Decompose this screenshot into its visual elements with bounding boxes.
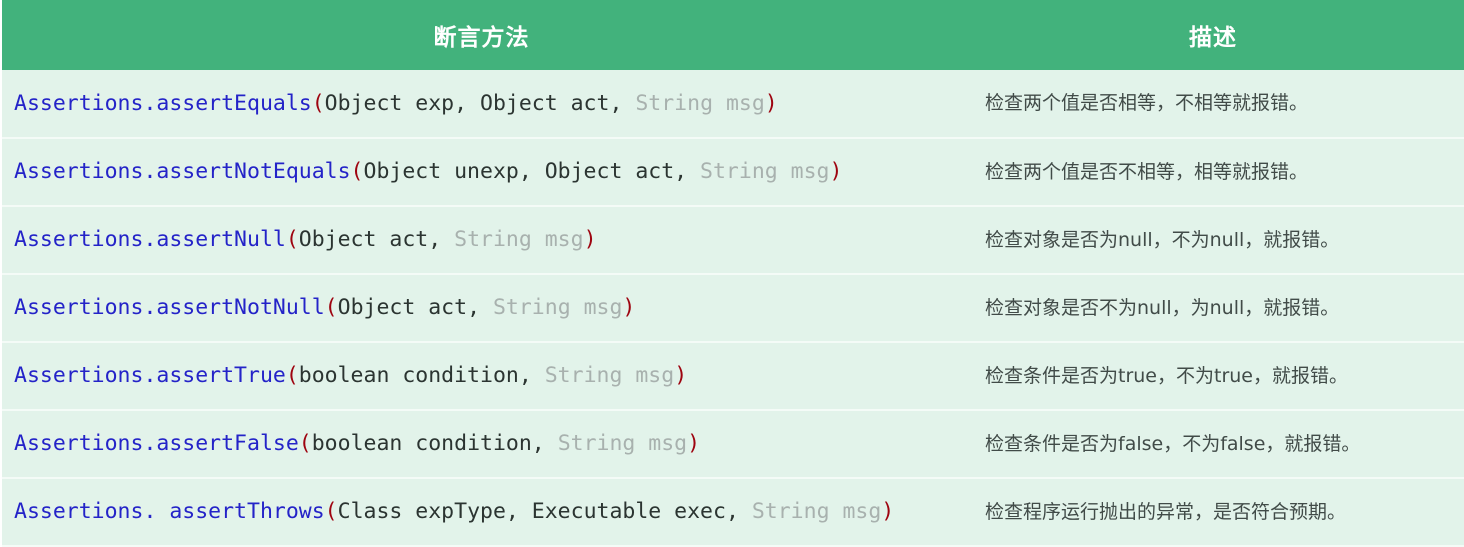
assertion-description-text: 检查对象是否为null，不为null，就报错。 (985, 229, 1339, 251)
assertion-description-cell: 检查两个值是否不相等，相等就报错。 (961, 138, 1464, 206)
assertion-method-signature: Assertions.assertNotNull(Object act, Str… (14, 295, 635, 320)
assertion-method-cell: Assertions.assertEquals(Object exp, Obje… (1, 70, 961, 138)
table-row: Assertions.assertNotEquals(Object unexp,… (1, 138, 1464, 206)
optional-arg: String msg (493, 295, 622, 320)
assertion-description-cell: 检查条件是否为true，不为true，就报错。 (961, 342, 1464, 410)
method-args: boolean condition, (312, 431, 558, 456)
method-name: Assertions.assertTrue (14, 363, 286, 388)
table-row: Assertions.assertEquals(Object exp, Obje… (1, 70, 1464, 138)
assertion-method-cell: Assertions. assertThrows(Class expType, … (1, 478, 961, 546)
method-args: Object act, (299, 227, 454, 252)
method-name: Assertions.assertNotEquals (14, 159, 351, 184)
table-row: Assertions.assertTrue(boolean condition,… (1, 342, 1464, 410)
assertion-description-text: 检查程序运行抛出的异常，是否符合预期。 (985, 501, 1346, 523)
table-row: Assertions.assertNull(Object act, String… (1, 206, 1464, 274)
paren-open: ( (299, 431, 312, 456)
column-header-method: 断言方法 (1, 0, 961, 70)
method-name: Assertions.assertNotNull (14, 295, 325, 320)
method-name: Assertions.assertEquals (14, 91, 312, 116)
assertion-method-cell: Assertions.assertTrue(boolean condition,… (1, 342, 961, 410)
method-name: Assertions.assertFalse (14, 431, 299, 456)
optional-arg: String msg (752, 499, 881, 524)
column-header-description: 描述 (961, 0, 1464, 70)
assertion-method-signature: Assertions.assertNull(Object act, String… (14, 227, 597, 252)
method-args: boolean condition, (299, 363, 545, 388)
optional-arg: String msg (545, 363, 674, 388)
optional-arg: String msg (700, 159, 829, 184)
assertion-description-cell: 检查条件是否为false，不为false，就报错。 (961, 410, 1464, 478)
optional-arg: String msg (454, 227, 583, 252)
paren-open: ( (312, 91, 325, 116)
assertion-description-text: 检查条件是否为false，不为false，就报错。 (985, 433, 1360, 455)
paren-close: ) (687, 431, 700, 456)
method-args: Object unexp, Object act, (364, 159, 701, 184)
paren-open: ( (325, 295, 338, 320)
assertion-description-text: 检查两个值是否不相等，相等就报错。 (985, 161, 1308, 183)
paren-close: ) (881, 499, 894, 524)
assertion-methods-table-container: 断言方法 描述 Assertions.assertEquals(Object e… (0, 0, 1464, 547)
optional-arg: String msg (558, 431, 687, 456)
method-args: Object exp, Object act, (325, 91, 636, 116)
paren-close: ) (674, 363, 687, 388)
paren-close: ) (765, 91, 778, 116)
paren-open: ( (351, 159, 364, 184)
table-body: Assertions.assertEquals(Object exp, Obje… (1, 70, 1464, 547)
method-name: Assertions. assertThrows (14, 499, 325, 524)
assertion-methods-table: 断言方法 描述 Assertions.assertEquals(Object e… (0, 0, 1464, 547)
table-row: Assertions.assertFalse(boolean condition… (1, 410, 1464, 478)
assertion-method-signature: Assertions.assertFalse(boolean condition… (14, 431, 700, 456)
table-head: 断言方法 描述 (1, 0, 1464, 70)
assertion-description-text: 检查两个值是否相等，不相等就报错。 (985, 92, 1308, 114)
paren-close: ) (622, 295, 635, 320)
method-name: Assertions.assertNull (14, 227, 286, 252)
assertion-description-text: 检查对象是否不为null，为null，就报错。 (985, 297, 1339, 319)
method-args: Object act, (338, 295, 493, 320)
assertion-method-cell: Assertions.assertNull(Object act, String… (1, 206, 961, 274)
paren-close: ) (584, 227, 597, 252)
assertion-description-text: 检查条件是否为true，不为true，就报错。 (985, 365, 1348, 387)
assertion-method-cell: Assertions.assertNotNull(Object act, Str… (1, 274, 961, 342)
paren-open: ( (325, 499, 338, 524)
assertion-description-cell: 检查两个值是否相等，不相等就报错。 (961, 70, 1464, 138)
method-args: Class expType, Executable exec, (338, 499, 752, 524)
assertion-method-signature: Assertions.assertEquals(Object exp, Obje… (14, 91, 778, 116)
table-row: Assertions. assertThrows(Class expType, … (1, 478, 1464, 546)
optional-arg: String msg (635, 91, 764, 116)
assertion-description-cell: 检查程序运行抛出的异常，是否符合预期。 (961, 478, 1464, 546)
assertion-method-cell: Assertions.assertFalse(boolean condition… (1, 410, 961, 478)
paren-close: ) (830, 159, 843, 184)
paren-open: ( (286, 363, 299, 388)
assertion-method-cell: Assertions.assertNotEquals(Object unexp,… (1, 138, 961, 206)
assertion-description-cell: 检查对象是否不为null，为null，就报错。 (961, 274, 1464, 342)
assertion-description-cell: 检查对象是否为null，不为null，就报错。 (961, 206, 1464, 274)
paren-open: ( (286, 227, 299, 252)
assertion-method-signature: Assertions. assertThrows(Class expType, … (14, 499, 894, 524)
table-row: Assertions.assertNotNull(Object act, Str… (1, 274, 1464, 342)
table-header-row: 断言方法 描述 (1, 0, 1464, 70)
assertion-method-signature: Assertions.assertNotEquals(Object unexp,… (14, 159, 842, 184)
assertion-method-signature: Assertions.assertTrue(boolean condition,… (14, 363, 687, 388)
